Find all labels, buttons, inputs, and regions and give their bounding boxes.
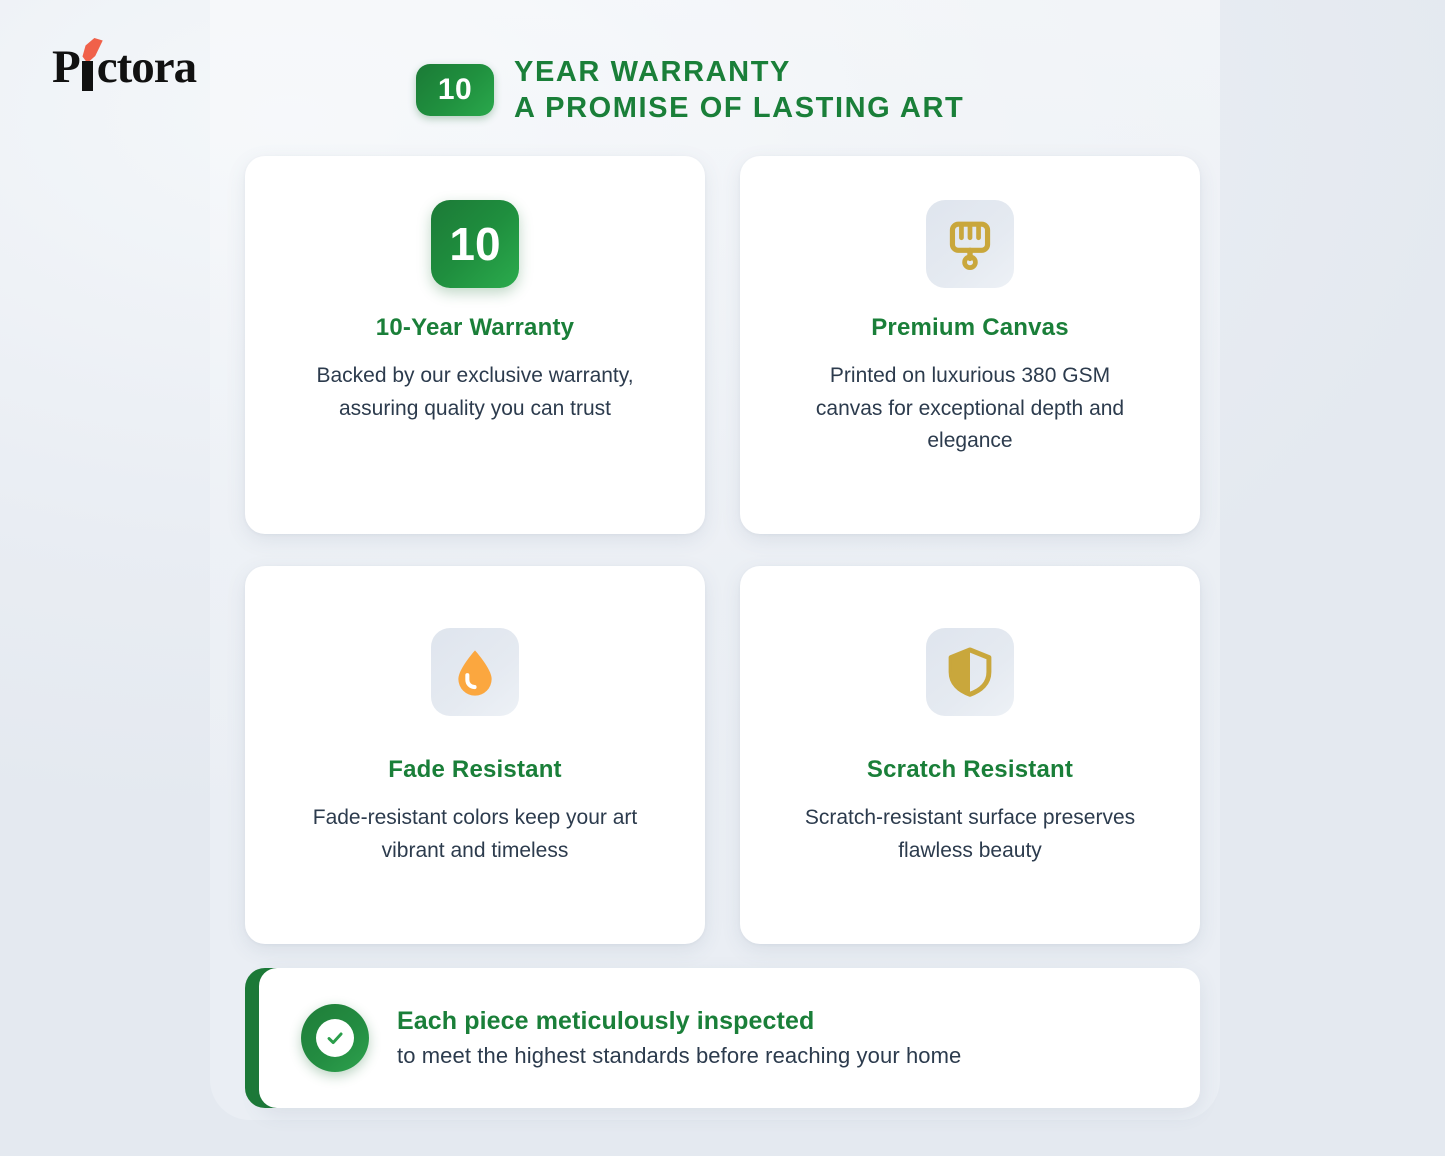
- header-line-1: YEAR WARRANTY: [514, 55, 964, 89]
- brand-logo[interactable]: P ctora: [52, 44, 196, 91]
- check-mark-icon: [324, 1027, 346, 1049]
- card-title: Scratch Resistant: [867, 756, 1073, 784]
- droplet-icon: [448, 645, 502, 699]
- header-line-2: A PROMISE OF LASTING ART: [514, 91, 964, 125]
- badge-10-icon: 10: [431, 200, 519, 288]
- card-title: 10-Year Warranty: [376, 314, 574, 342]
- logo-text-prefix: P: [52, 44, 80, 91]
- banner-text-block: Each piece meticulously inspected to mee…: [397, 1007, 961, 1069]
- banner-headline-strong: meticulously inspected: [536, 1007, 815, 1035]
- header-text-block: YEAR WARRANTY A PROMISE OF LASTING ART: [514, 55, 964, 125]
- inspection-banner: Each piece meticulously inspected to mee…: [245, 968, 1200, 1108]
- card-title: Premium Canvas: [871, 314, 1069, 342]
- feature-card-fade-resistant[interactable]: Fade Resistant Fade-resistant colors kee…: [245, 566, 705, 944]
- card-description: Backed by our exclusive warranty, assuri…: [290, 360, 660, 425]
- banner-headline: Each piece meticulously inspected: [397, 1007, 961, 1036]
- shield-icon-tile: [926, 628, 1014, 716]
- check-circle-inner: [316, 1019, 354, 1057]
- logo-text-suffix: ctora: [97, 44, 196, 91]
- feature-card-canvas[interactable]: Premium Canvas Printed on luxurious 380 …: [740, 156, 1200, 534]
- feature-card-scratch-resistant[interactable]: Scratch Resistant Scratch-resistant surf…: [740, 566, 1200, 944]
- feature-card-grid: 10 10-Year Warranty Backed by our exclus…: [245, 156, 1200, 944]
- paintbrush-icon-tile: [926, 200, 1014, 288]
- card-description: Printed on luxurious 380 GSM canvas for …: [785, 360, 1155, 458]
- banner-body: Each piece meticulously inspected to mee…: [259, 968, 1200, 1108]
- banner-subline: to meet the highest standards before rea…: [397, 1043, 961, 1069]
- paintbrush-icon: [943, 217, 997, 271]
- card-title: Fade Resistant: [388, 756, 562, 784]
- card-description: Scratch-resistant surface preserves flaw…: [785, 802, 1155, 867]
- page-content: P ctora 10 YEAR WARRANTY A PROMISE OF LA…: [0, 0, 1445, 1156]
- feature-card-warranty[interactable]: 10 10-Year Warranty Backed by our exclus…: [245, 156, 705, 534]
- header-badge-10: 10: [416, 64, 494, 116]
- shield-icon: [943, 645, 997, 699]
- card-description: Fade-resistant colors keep your art vibr…: [290, 802, 660, 867]
- banner-headline-normal: Each piece: [397, 1007, 536, 1035]
- droplet-icon-tile: [431, 628, 519, 716]
- check-circle-icon: [301, 1004, 369, 1072]
- logo-i-stem: [82, 61, 93, 91]
- warranty-header: 10 YEAR WARRANTY A PROMISE OF LASTING AR…: [416, 55, 964, 125]
